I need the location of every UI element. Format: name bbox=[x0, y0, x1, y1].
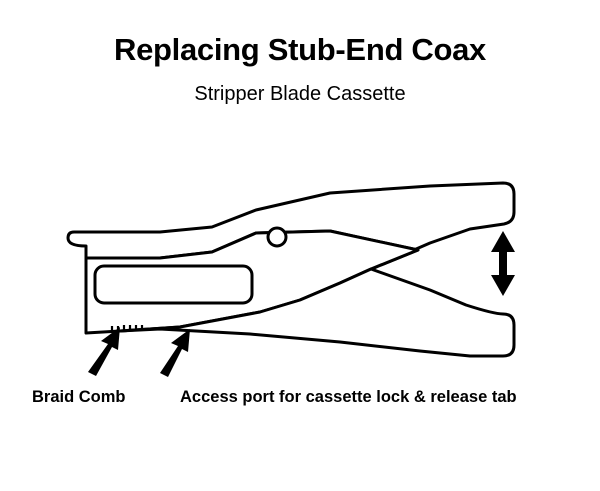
callout-label-braid-comb: Braid Comb bbox=[32, 387, 126, 407]
callout-label-access-port: Access port for cassette lock & release … bbox=[180, 387, 517, 407]
diagram-root: Replacing Stub-End Coax Stripper Blade C… bbox=[0, 0, 600, 491]
callout-labels: Braid Comb Access port for cassette lock… bbox=[0, 0, 600, 491]
